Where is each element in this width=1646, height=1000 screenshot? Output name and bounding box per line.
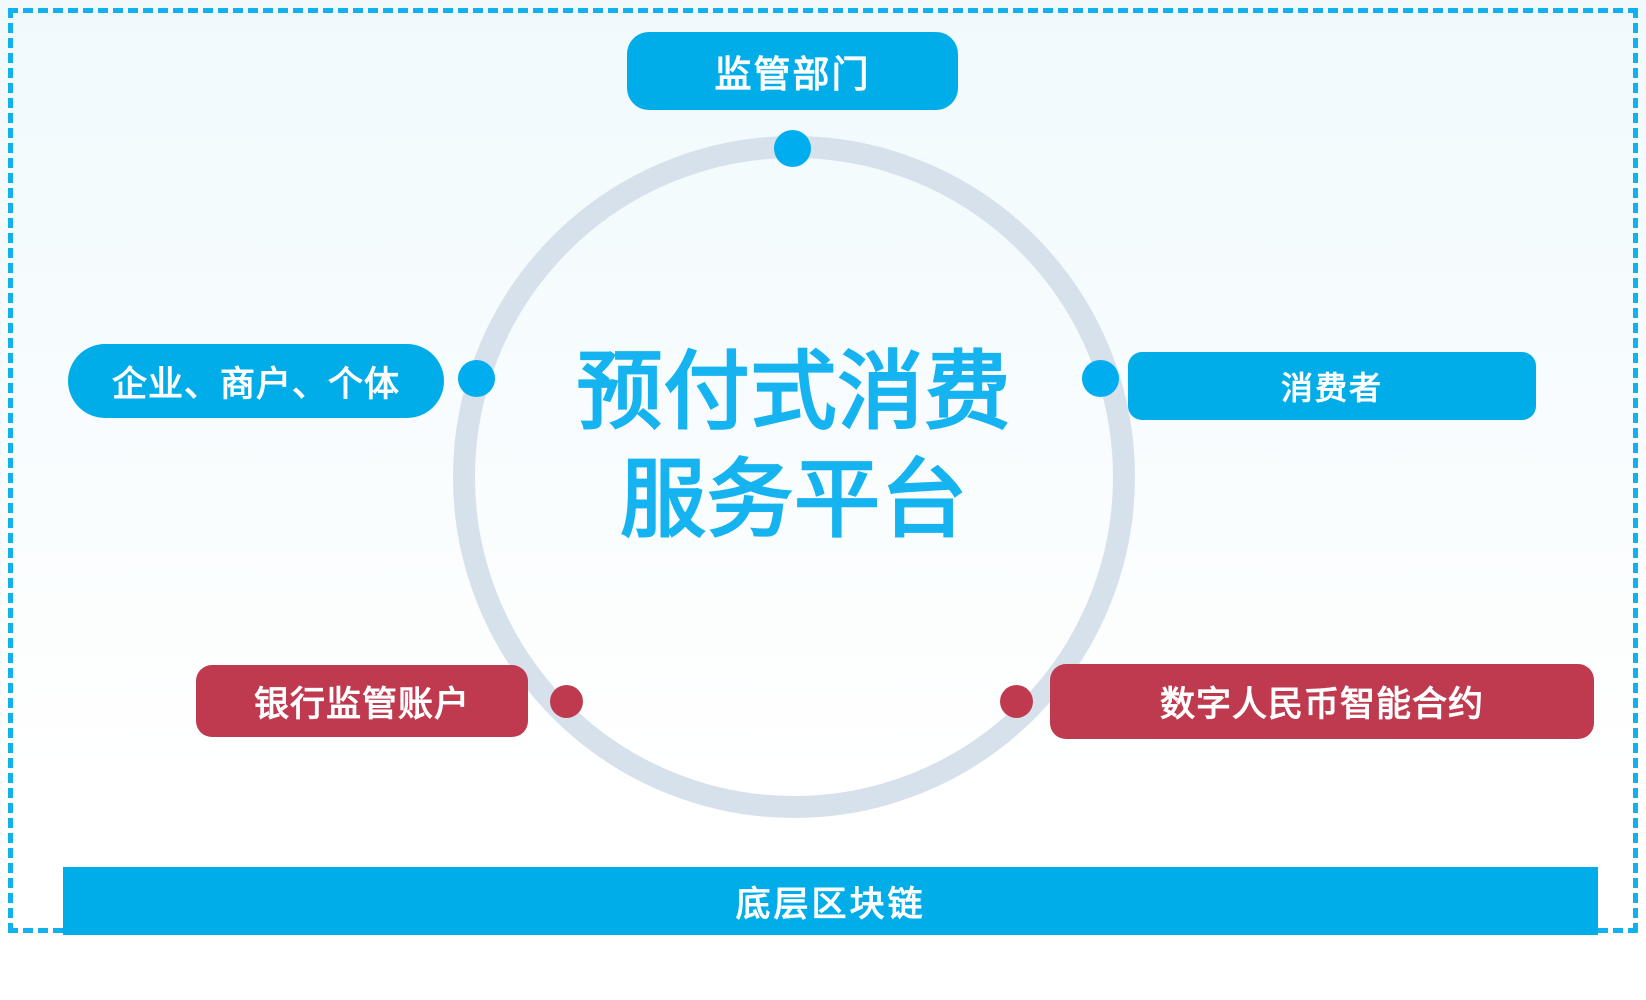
connector-dot-bank [550, 685, 583, 718]
foundation-blockchain-bar[interactable]: 底层区块链 [63, 867, 1598, 935]
node-enterprise[interactable]: 企业、商户、个体 [68, 344, 444, 418]
center-label-line-2: 服务平台 [503, 446, 1085, 554]
node-consumer[interactable]: 消费者 [1128, 352, 1536, 420]
connector-dot-contract [1000, 685, 1033, 718]
connector-dot-enterprise [458, 360, 495, 397]
diagram-canvas: 预付式消费 服务平台 监管部门 企业、商户、个体 消费者 银行监管账户 数字人民… [0, 0, 1646, 1000]
center-label-line-1: 预付式消费 [503, 338, 1085, 446]
node-regulator[interactable]: 监管部门 [627, 32, 958, 110]
node-digital-rmb-smart-contract[interactable]: 数字人民币智能合约 [1050, 664, 1594, 739]
connector-dot-regulator [774, 130, 811, 167]
center-platform-label: 预付式消费 服务平台 [503, 338, 1085, 555]
connector-dot-consumer [1082, 360, 1119, 397]
node-bank-supervision-account[interactable]: 银行监管账户 [196, 665, 528, 737]
